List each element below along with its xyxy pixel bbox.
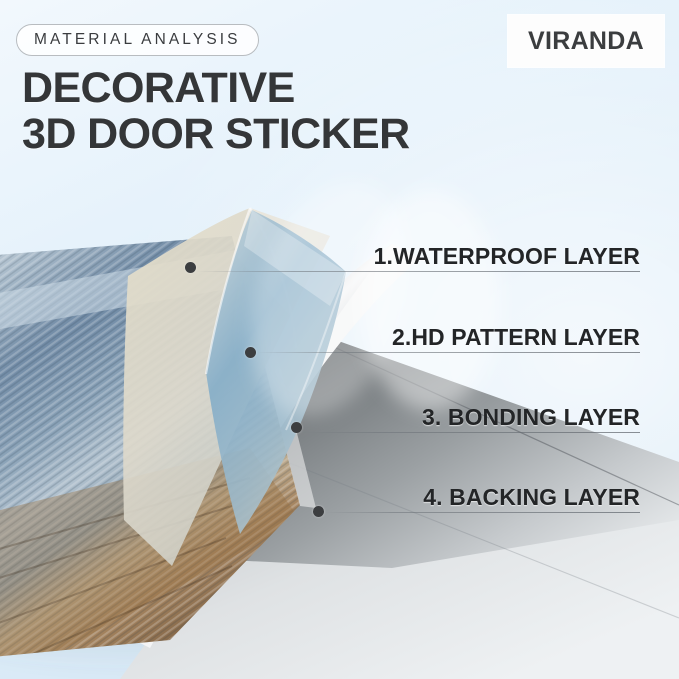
infographic-canvas: MATERIAL ANALYSIS DECORATIVE 3D DOOR STI… [0,0,679,679]
layer-leader-line-4 [324,512,640,513]
layer-leader-line-3 [302,432,640,433]
layer-marker-dot-4 [313,506,324,517]
title-line-2: 3D DOOR STICKER [22,112,410,158]
layer-leader-line-2 [256,352,640,353]
layer-marker-dot-1 [185,262,196,273]
brand-logo-box: VIRANDA [508,15,664,67]
page-title: DECORATIVE 3D DOOR STICKER [22,66,410,157]
title-line-1: DECORATIVE [22,64,295,112]
layer-marker-dot-2 [245,347,256,358]
brand-name: VIRANDA [528,27,644,56]
eyebrow-label: MATERIAL ANALYSIS [34,31,241,49]
layer-leader-line-1 [196,271,640,272]
layer-marker-dot-3 [291,422,302,433]
eyebrow-badge: MATERIAL ANALYSIS [16,24,259,56]
